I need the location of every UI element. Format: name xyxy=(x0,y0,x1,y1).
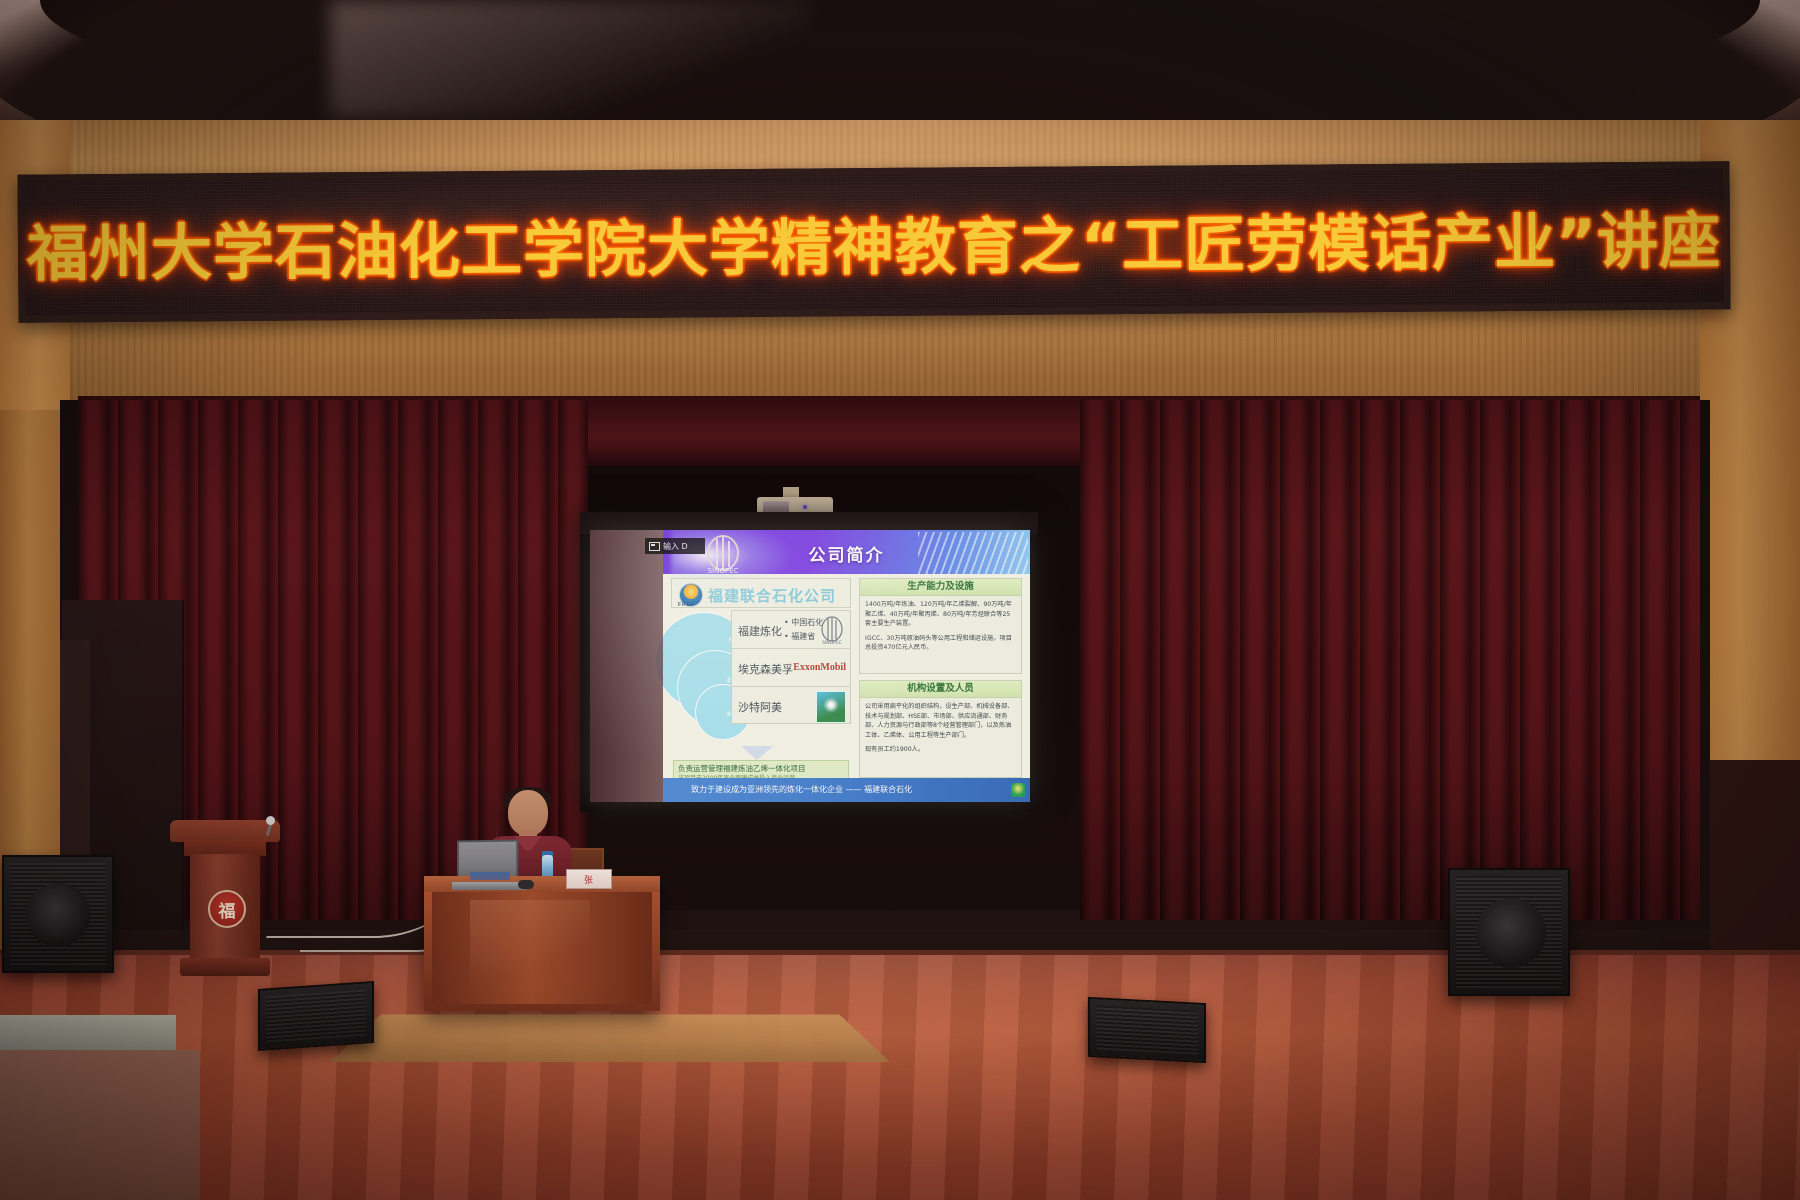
name-card-text: 张 xyxy=(584,873,594,886)
lectern: 福 xyxy=(170,820,280,980)
company-name-box: FREP 福建联合石化公司 xyxy=(671,578,851,608)
capacity-card: 生产能力及设施 1400万吨/年炼油、120万吨/年乙烯裂解、90万吨/年聚乙烯… xyxy=(859,578,1022,674)
organization-card: 机构设置及人员 公司采用扁平化的组织结构，设生产部、机械设备部、技术与规划部、H… xyxy=(859,680,1022,778)
shareholder-name: 福建炼化 xyxy=(738,623,782,639)
speaker-left xyxy=(2,855,114,973)
led-banner-text: 福州大学石油化工学院大学精神教育之“工匠劳模话产业”讲座 xyxy=(25,191,1724,293)
computer-mouse xyxy=(518,880,534,889)
lectern-top xyxy=(170,820,280,842)
slide-footer: 致力于建设成为亚洲领先的炼化一体化企业 —— 福建联合石化 xyxy=(663,778,1030,802)
slide-footer-badge-icon xyxy=(1011,783,1025,797)
projector-input-osd: 输入 D xyxy=(645,538,705,554)
frep-logo-caption: FREP xyxy=(678,602,695,608)
monitor-grill xyxy=(266,990,366,1043)
screen-shadow-left xyxy=(590,530,663,802)
projector-input-label: 输入 D xyxy=(663,541,688,552)
ceiling-light-reflection xyxy=(330,0,810,118)
floor-riser-base xyxy=(0,1050,200,1200)
desk-items xyxy=(470,872,510,880)
sinopec-logo-icon: SINOPEC xyxy=(817,615,847,645)
shareholder-name: 沙特阿美 xyxy=(738,699,782,715)
organization-paragraph: 现有员工约1900人。 xyxy=(865,745,1016,755)
capacity-paragraph: IGCC、30万吨原油码头等公用工程和储运设施。项目总投资470亿元人民币。 xyxy=(865,634,1016,653)
shareholder-list: 福建炼化 • 中国石化 • 福建省 SINOPEC xyxy=(731,610,851,724)
slide-footer-tagline: 致力于建设成为亚洲领先的炼化一体化企业 —— 福建联合石化 xyxy=(691,784,912,795)
exxonmobil-logo: ExxonMobil xyxy=(793,662,846,673)
saudi-aramco-logo-icon xyxy=(816,691,846,723)
capacity-heading: 生产能力及设施 xyxy=(860,579,1021,595)
organization-card-body: 公司采用扁平化的组织结构，设生产部、机械设备部、技术与规划部、HSE部、市场部、… xyxy=(860,698,1021,764)
name-card: 张 xyxy=(566,869,612,889)
speaker-table-highlight xyxy=(470,900,590,996)
university-emblem: 福 xyxy=(208,890,246,928)
capacity-card-header: 生产能力及设施 xyxy=(860,579,1021,596)
speaker-cone xyxy=(1476,898,1546,968)
svg-text:SINOPEC: SINOPEC xyxy=(822,640,842,645)
slide-left-column: FREP 福建联合石化公司 50% 25% 25% 福建炼化 xyxy=(671,578,851,774)
stage-monitor-right xyxy=(1088,997,1206,1063)
speaker-cone xyxy=(26,883,90,947)
curtain-right xyxy=(1080,400,1700,920)
slide-right-column: 生产能力及设施 1400万吨/年炼油、120万吨/年乙烯裂解、90万吨/年聚乙烯… xyxy=(859,578,1022,774)
shareholder-row: 埃克森美孚 ExxonMobil xyxy=(731,648,851,686)
stage-monitor-left xyxy=(258,981,374,1051)
shareholder-row: 沙特阿美 xyxy=(731,686,851,724)
organization-card-header: 机构设置及人员 xyxy=(860,681,1021,698)
laptop-keyboard xyxy=(452,882,526,890)
lecture-hall-photo: 福州大学石油化工学院大学精神教育之“工匠劳模话产业”讲座 SINOPEC 公司简… xyxy=(0,0,1800,1200)
slide-body: FREP 福建联合石化公司 50% 25% 25% 福建炼化 xyxy=(663,574,1030,778)
emblem-text: 福 xyxy=(219,897,236,922)
organization-heading: 机构设置及人员 xyxy=(860,681,1021,697)
aramco-star-icon xyxy=(822,696,840,714)
shareholder-row: 福建炼化 • 中国石化 • 福建省 SINOPEC xyxy=(731,610,851,648)
slide-header: SINOPEC 公司简介 xyxy=(663,530,1030,574)
capacity-card-body: 1400万吨/年炼油、120万吨/年乙烯裂解、90万吨/年聚乙烯、40万吨/年聚… xyxy=(860,596,1021,662)
capacity-paragraph: 1400万吨/年炼油、120万吨/年乙烯裂解、90万吨/年聚乙烯、40万吨/年聚… xyxy=(865,600,1016,629)
company-name: 福建联合石化公司 xyxy=(708,585,836,606)
projector-status-led xyxy=(803,505,807,509)
presentation-slide: SINOPEC 公司简介 FREP 福建联合石化公司 50% xyxy=(663,530,1030,802)
down-arrow-icon xyxy=(741,746,773,760)
led-banner: 福州大学石油化工学院大学精神教育之“工匠劳模话产业”讲座 xyxy=(17,161,1730,322)
input-source-icon xyxy=(649,542,660,551)
microphone-head-icon xyxy=(266,816,275,825)
monitor-grill xyxy=(1096,1005,1198,1054)
shareholder-name: 埃克森美孚 xyxy=(738,661,793,677)
organization-paragraph: 公司采用扁平化的组织结构，设生产部、机械设备部、技术与规划部、HSE部、市场部、… xyxy=(865,702,1016,740)
floor-riser-step xyxy=(0,1015,176,1055)
lectern-base xyxy=(180,958,270,976)
slide-title: 公司简介 xyxy=(663,541,1030,566)
speaker-right xyxy=(1448,868,1570,996)
